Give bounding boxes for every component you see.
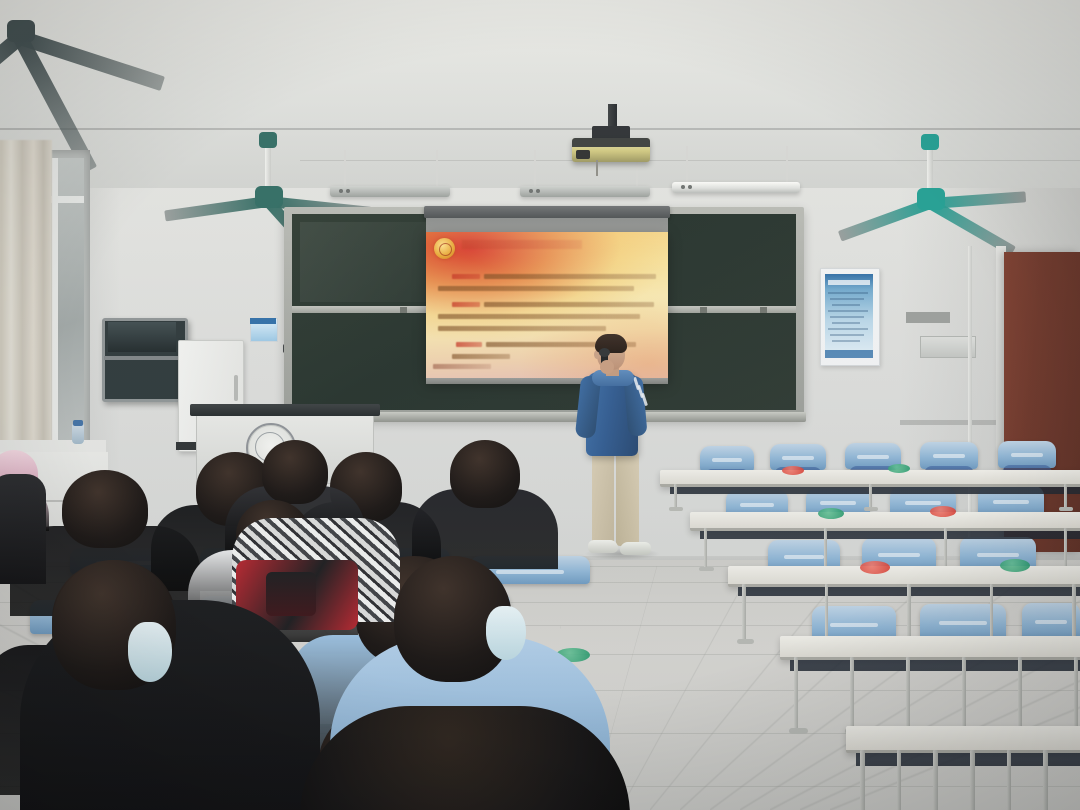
blackboard-rail-clip bbox=[760, 307, 767, 313]
chair-backrest-slot bbox=[740, 503, 775, 507]
blackboard-rail-clip bbox=[400, 307, 407, 313]
fan-canopy bbox=[259, 132, 277, 148]
blue-wall-sign-header bbox=[250, 318, 276, 324]
desk-sticker-green bbox=[1000, 559, 1030, 572]
light-suspension-wire bbox=[436, 150, 438, 186]
desk-leg-foot bbox=[1059, 507, 1073, 511]
desk-sticker-green bbox=[888, 464, 910, 473]
ceiling bbox=[0, 0, 1080, 205]
desk-leg bbox=[825, 584, 829, 642]
wall-notice-line bbox=[830, 316, 864, 318]
wall-notice-line bbox=[830, 334, 864, 336]
light-end-cap bbox=[536, 189, 540, 193]
presenter-leg-right bbox=[616, 450, 639, 546]
chair-backrest-slot bbox=[782, 456, 813, 460]
desk-leg bbox=[850, 657, 854, 731]
desk-leg bbox=[897, 750, 902, 810]
desk-sticker-red bbox=[782, 466, 804, 475]
student-head bbox=[62, 470, 148, 548]
chair-backrest-slot bbox=[933, 454, 965, 458]
ceiling-seam bbox=[0, 128, 1080, 130]
desk-leg-foot bbox=[789, 728, 808, 734]
window-mullion-vertical bbox=[52, 158, 58, 440]
light-suspension-wire bbox=[686, 146, 688, 182]
presenter-leg-left bbox=[592, 450, 614, 546]
desk-leg bbox=[1018, 657, 1022, 731]
wall-notice-footer bbox=[825, 350, 873, 358]
desk-leg bbox=[824, 528, 827, 570]
water-bottle[interactable] bbox=[72, 424, 84, 444]
projector-cable bbox=[596, 160, 598, 176]
classroom-desk[interactable] bbox=[690, 512, 1080, 531]
lectern-top bbox=[190, 404, 380, 416]
wall-notice-line bbox=[828, 328, 868, 330]
wall-notice-line bbox=[832, 304, 860, 306]
student-blue-shirt-face-mask bbox=[486, 606, 526, 660]
projector-lens bbox=[576, 150, 590, 159]
light-end-cap bbox=[681, 185, 685, 189]
desk-leg bbox=[742, 584, 746, 642]
desk-leg bbox=[944, 528, 947, 570]
chair-backrest-slot bbox=[878, 553, 919, 557]
water-bottle-cap bbox=[73, 420, 83, 426]
desk-leg-foot bbox=[699, 567, 714, 571]
light-suspension-wire bbox=[344, 150, 346, 186]
light-suspension-wire bbox=[786, 146, 788, 182]
student-pink-cap-body bbox=[0, 474, 46, 584]
wall-notice-line bbox=[828, 310, 868, 312]
presenter-shoe-right bbox=[620, 542, 651, 555]
backpack-front-pocket bbox=[266, 572, 316, 616]
fan-motor-hub bbox=[917, 188, 945, 210]
desk-leg bbox=[933, 750, 938, 810]
classroom-photo bbox=[0, 0, 1080, 810]
chair-backrest-slot bbox=[939, 621, 987, 625]
desk-leg-foot bbox=[669, 507, 683, 511]
ceiling-seam-secondary bbox=[300, 160, 1080, 161]
desk-leg bbox=[860, 750, 865, 810]
light-suspension-wire bbox=[534, 150, 536, 186]
light-end-cap bbox=[339, 189, 343, 193]
cabinet-handle[interactable] bbox=[234, 375, 238, 401]
classroom-desk[interactable] bbox=[846, 726, 1080, 753]
desk-leg bbox=[1007, 750, 1012, 810]
wall-notice-line bbox=[830, 298, 864, 300]
chair-backrest-slot bbox=[1011, 453, 1043, 457]
monitor-screen bbox=[108, 322, 176, 352]
desk-leg bbox=[990, 584, 994, 642]
desk-sticker-red bbox=[930, 506, 956, 517]
student-masked-front-face-mask bbox=[128, 622, 172, 682]
desk-leg bbox=[1072, 584, 1076, 642]
wall-notice-line bbox=[832, 340, 860, 342]
projection-screen-casing bbox=[424, 206, 670, 218]
projection-screen-glare bbox=[426, 232, 668, 382]
desk-leg-foot bbox=[864, 507, 878, 511]
monitor-shelf bbox=[104, 356, 178, 360]
desk-leg bbox=[970, 750, 975, 810]
chair-backrest-slot bbox=[993, 500, 1030, 504]
wall-plate bbox=[906, 312, 950, 323]
presenter-hand bbox=[600, 360, 614, 374]
desk-leg-foot bbox=[737, 639, 754, 644]
chair-backrest-slot bbox=[857, 455, 888, 459]
presenter-shoe-left bbox=[588, 540, 618, 553]
desk-leg bbox=[704, 528, 707, 570]
student-head bbox=[262, 440, 328, 504]
chair-backrest-slot bbox=[1035, 620, 1067, 624]
desk-leg bbox=[1074, 657, 1078, 731]
desk-leg bbox=[1043, 750, 1048, 810]
light-end-cap bbox=[346, 189, 350, 193]
window-curtain[interactable] bbox=[0, 140, 52, 470]
chair-backrest-slot bbox=[905, 501, 942, 505]
microphone-head bbox=[599, 348, 610, 357]
desk-leg bbox=[794, 657, 798, 731]
fan-motor-hub bbox=[255, 186, 283, 208]
projector-top-panel bbox=[572, 138, 650, 147]
desk-leg bbox=[906, 657, 910, 731]
chair-backrest-slot bbox=[784, 555, 824, 559]
desk-sticker-red bbox=[860, 561, 890, 574]
light-end-cap bbox=[688, 185, 692, 189]
chair-backrest-slot bbox=[830, 623, 877, 627]
classroom-desk[interactable] bbox=[780, 636, 1080, 660]
fan-canopy bbox=[921, 134, 939, 150]
chair-backrest-slot bbox=[712, 458, 742, 462]
desk-leg bbox=[1064, 528, 1067, 570]
fan-motor-hub bbox=[7, 20, 35, 42]
wall-notice-title bbox=[828, 280, 870, 285]
wall-notice-line bbox=[832, 322, 860, 324]
chair-backrest-slot bbox=[496, 570, 563, 574]
light-end-cap bbox=[529, 189, 533, 193]
wall-notice-line bbox=[828, 292, 868, 294]
blackboard-rail-clip bbox=[700, 307, 707, 313]
desk-sticker-green bbox=[818, 508, 844, 519]
desk-leg bbox=[962, 657, 966, 731]
chair-backrest-slot bbox=[820, 501, 856, 505]
chair-backrest-slot bbox=[977, 553, 1020, 557]
desk-leg bbox=[907, 584, 911, 642]
student-head bbox=[450, 440, 520, 508]
